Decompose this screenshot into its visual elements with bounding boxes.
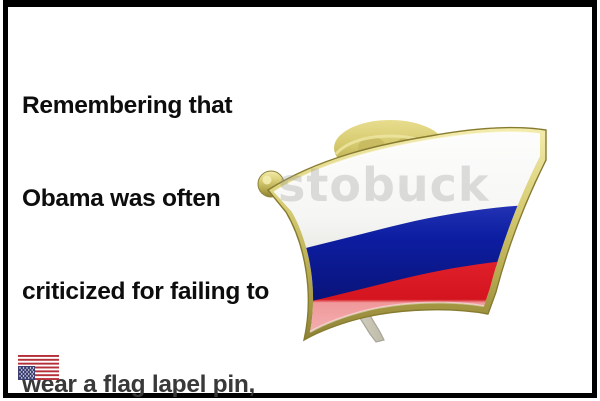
caption-line: wear a flag lapel pin, <box>22 369 322 400</box>
caption-line: criticized for failing to <box>22 276 322 307</box>
caption-line: Remembering that <box>22 90 322 121</box>
us-flag-badge <box>18 355 59 380</box>
caption-text: Remembering that Obama was often critici… <box>22 28 322 401</box>
caption-line: Obama was often <box>22 183 322 214</box>
meme-image: stobuck Remembering that Obama was often… <box>0 0 600 401</box>
